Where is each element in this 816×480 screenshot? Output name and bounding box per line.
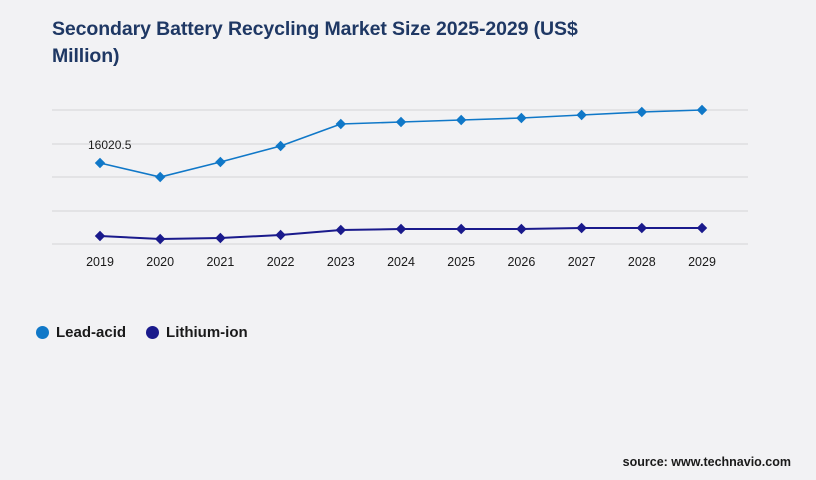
- chart-legend: Lead-acid Lithium-ion: [36, 324, 248, 341]
- x-tick-label: 2023: [311, 255, 371, 269]
- data-point-marker[interactable]: [155, 234, 165, 244]
- data-point-marker[interactable]: [516, 224, 526, 234]
- data-point-marker[interactable]: [637, 107, 647, 117]
- legend-label-lead-acid: Lead-acid: [56, 324, 126, 341]
- x-tick-label: 2024: [371, 255, 431, 269]
- data-point-marker[interactable]: [576, 110, 586, 120]
- x-tick-label: 2026: [491, 255, 551, 269]
- plot-area: [0, 0, 816, 480]
- data-point-marker[interactable]: [275, 230, 285, 240]
- x-tick-label: 2021: [190, 255, 250, 269]
- data-point-label: 16020.5: [88, 138, 131, 152]
- x-tick-label: 2022: [251, 255, 311, 269]
- x-tick-label: 2028: [612, 255, 672, 269]
- data-point-marker[interactable]: [95, 231, 105, 241]
- legend-label-lithium-ion: Lithium-ion: [166, 324, 248, 341]
- data-series-group: [95, 105, 707, 244]
- legend-item-lead-acid[interactable]: Lead-acid: [36, 324, 126, 341]
- data-point-marker[interactable]: [396, 224, 406, 234]
- data-point-marker[interactable]: [576, 223, 586, 233]
- data-point-marker[interactable]: [275, 141, 285, 151]
- data-point-marker[interactable]: [215, 233, 225, 243]
- source-note: source: www.technavio.com: [623, 455, 791, 469]
- x-tick-label: 2027: [552, 255, 612, 269]
- data-point-marker[interactable]: [456, 224, 466, 234]
- x-tick-label: 2020: [130, 255, 190, 269]
- data-point-marker[interactable]: [697, 105, 707, 115]
- data-point-marker[interactable]: [637, 223, 647, 233]
- x-tick-label: 2025: [431, 255, 491, 269]
- data-point-marker[interactable]: [215, 157, 225, 167]
- data-point-marker[interactable]: [95, 158, 105, 168]
- data-point-marker[interactable]: [336, 225, 346, 235]
- data-point-marker[interactable]: [456, 115, 466, 125]
- chart-container: Secondary Battery Recycling Market Size …: [0, 0, 816, 480]
- legend-item-lithium-ion[interactable]: Lithium-ion: [146, 324, 248, 341]
- data-point-marker[interactable]: [697, 223, 707, 233]
- data-point-marker[interactable]: [516, 113, 526, 123]
- x-tick-label: 2019: [70, 255, 130, 269]
- data-point-marker[interactable]: [396, 117, 406, 127]
- data-point-marker[interactable]: [155, 172, 165, 182]
- legend-marker-lead-acid: [36, 326, 49, 339]
- data-point-marker[interactable]: [336, 119, 346, 129]
- legend-marker-lithium-ion: [146, 326, 159, 339]
- x-tick-label: 2029: [672, 255, 732, 269]
